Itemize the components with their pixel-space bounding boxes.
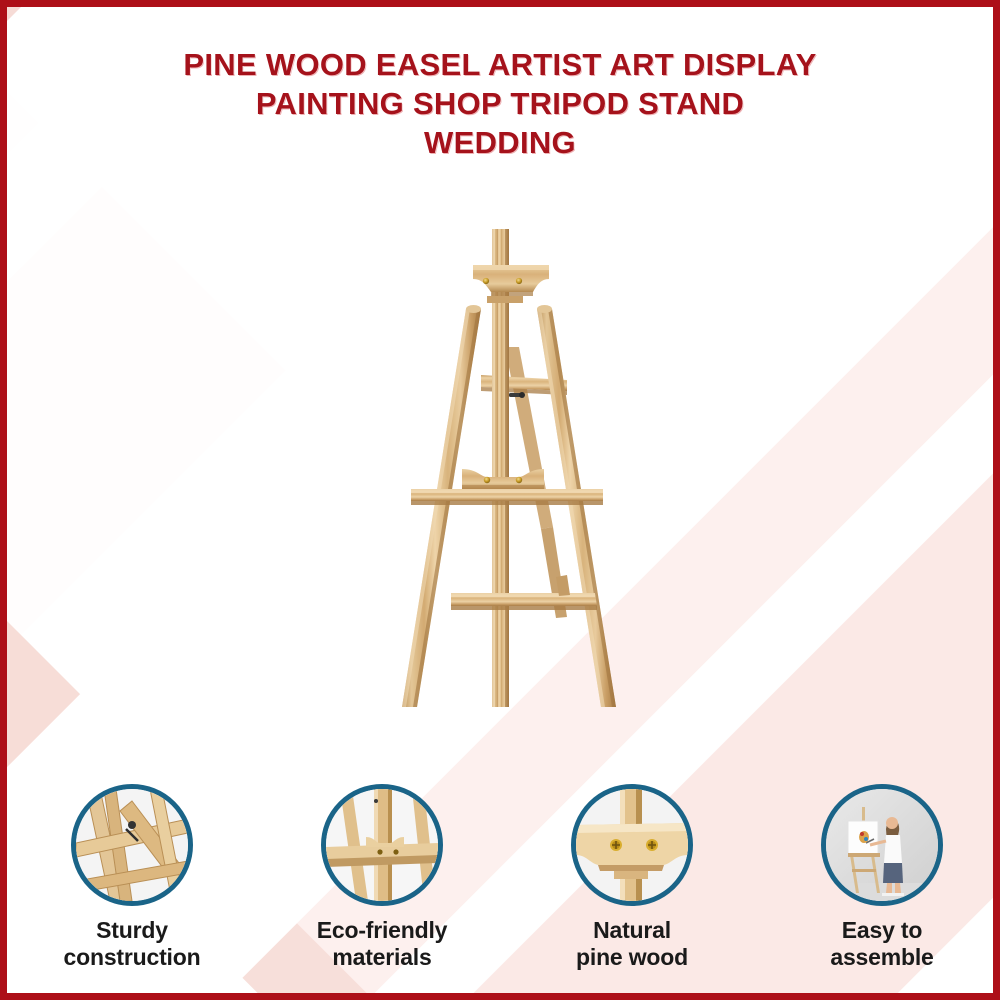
feature-label-line2: materials [332, 944, 431, 970]
feature-label: Sturdy construction [64, 917, 201, 971]
feature-thumbnail-easel-joint[interactable] [71, 784, 193, 906]
feature-item-eco-friendly-materials: Eco-friendly materials [257, 784, 507, 971]
top-canvas-bracket [473, 265, 549, 303]
wooden-ledge-brass-screws-icon [576, 789, 688, 901]
title-block: Pine Wood Easel Artist Art Display Paint… [7, 45, 993, 162]
girl-painting-at-easel-icon [826, 789, 938, 901]
page-title: Pine Wood Easel Artist Art Display Paint… [180, 45, 820, 162]
screw-icon [516, 477, 522, 483]
feature-label-line1: Eco-friendly [317, 917, 448, 943]
lower-crossbar [451, 593, 597, 610]
feature-label-line2: assemble [830, 944, 933, 970]
feature-item-natural-pine-wood: Natural pine wood [507, 784, 757, 971]
feature-thumbnail-girl-painting[interactable] [821, 784, 943, 906]
feature-label: Eco-friendly materials [317, 917, 448, 971]
easel-joint-closeup-icon [76, 789, 188, 901]
product-image-card: Pine Wood Easel Artist Art Display Paint… [0, 0, 1000, 1000]
feature-label: Natural pine wood [576, 917, 688, 971]
easel-illustration [7, 197, 1000, 737]
feature-row: Sturdy construction [7, 784, 1000, 971]
feature-label-line1: Natural [593, 917, 671, 943]
feature-label-line1: Easy to [842, 917, 922, 943]
feature-item-sturdy-construction: Sturdy construction [7, 784, 257, 971]
screw-icon [483, 278, 489, 284]
feature-label: Easy to assemble [830, 917, 933, 971]
feature-item-easy-to-assemble: Easy to assemble [757, 784, 1000, 971]
feature-label-line1: Sturdy [96, 917, 168, 943]
screw-icon [516, 278, 522, 284]
easel-crossbar-closeup-icon [326, 789, 438, 901]
feature-thumbnail-brass-screws[interactable] [571, 784, 693, 906]
feature-thumbnail-easel-crossbar[interactable] [321, 784, 443, 906]
feature-label-line2: construction [64, 944, 201, 970]
feature-label-line2: pine wood [576, 944, 688, 970]
screw-icon [484, 477, 490, 483]
left-front-leg [402, 305, 481, 707]
product-hero-image [7, 197, 1000, 737]
